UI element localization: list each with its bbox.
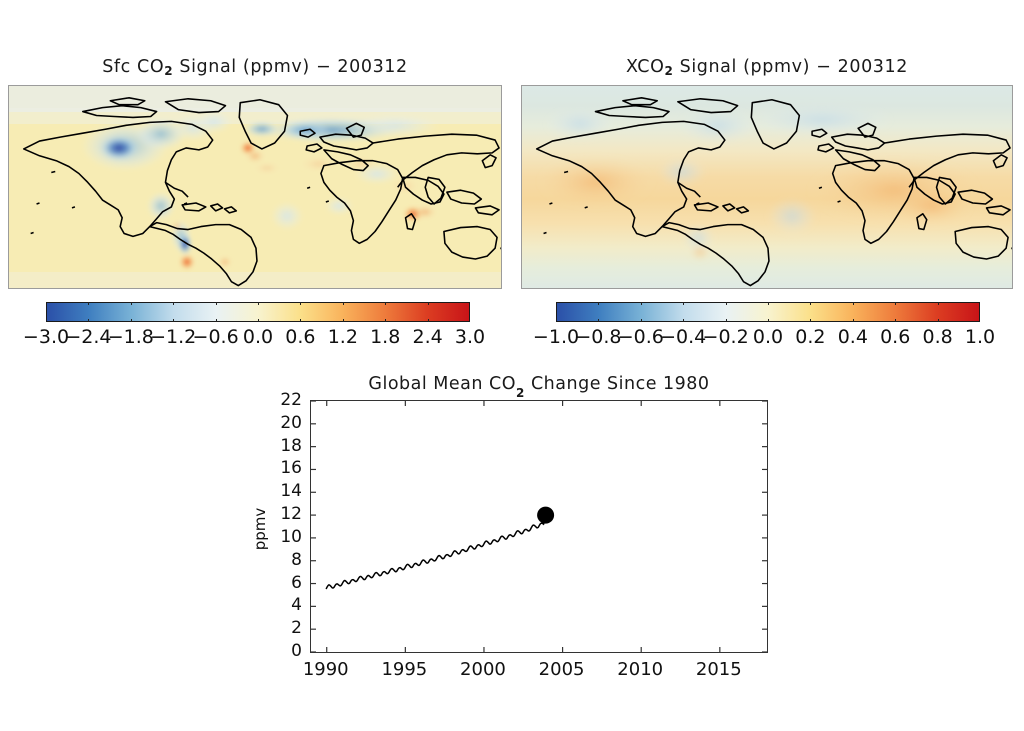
coastline-left-svg	[9, 86, 501, 289]
y-axis-tick-label: 4	[258, 595, 302, 615]
colorbar-tick	[726, 302, 727, 305]
coastline-right-svg	[522, 86, 1012, 289]
coastline-overlay-left	[9, 86, 501, 288]
colorbar-tick	[131, 302, 132, 305]
xco2-colorbar-labels: −1.0−0.8−0.6−0.4−0.20.00.20.40.60.81.0	[556, 326, 980, 350]
x-axis-tick-label: 2010	[617, 659, 663, 680]
x-axis-tick-label: 1990	[303, 659, 349, 680]
colorbar-tick-label: −0.4	[660, 326, 706, 348]
colorbar-tick	[938, 319, 939, 322]
xco2-colorbar: −1.0−0.8−0.6−0.4−0.20.00.20.40.60.81.0	[556, 302, 980, 354]
colorbar-tick	[300, 319, 301, 322]
timeseries-title-main: Global Mean CO	[368, 374, 516, 394]
colorbar-tick-label: 0.6	[285, 326, 315, 348]
colorbar-tick	[173, 302, 174, 305]
colorbar-tick-label: 1.0	[965, 326, 995, 348]
xco2-colorbar-ticks	[556, 302, 980, 322]
colorbar-tick-label: 0.8	[922, 326, 952, 348]
colorbar-tick-label: −1.2	[150, 326, 196, 348]
y-axis-tick-label: 18	[258, 436, 302, 456]
x-axis-tick-label: 2015	[696, 659, 742, 680]
sfc-colorbar-labels: −3.0−2.4−1.8−1.2−0.60.00.61.21.82.43.0	[46, 326, 470, 350]
timeseries-title: Global Mean CO2 Change Since 1980	[310, 374, 768, 397]
colorbar-tick-label: 3.0	[455, 326, 485, 348]
y-axis-tick-label: 12	[258, 504, 302, 524]
colorbar-tick	[768, 302, 769, 305]
colorbar-tick	[258, 319, 259, 322]
xco2-map-title-rest: Signal (ppmv) − 200312	[673, 57, 908, 77]
timeseries-title-rest: Change Since 1980	[525, 374, 710, 394]
colorbar-tick	[173, 319, 174, 322]
y-axis-tick-label: 20	[258, 413, 302, 433]
colorbar-tick-label: −1.8	[108, 326, 154, 348]
timeseries-plot-area[interactable]	[310, 400, 768, 653]
colorbar-tick	[853, 319, 854, 322]
sfc-colorbar-ticks	[46, 302, 470, 322]
timeseries-line	[326, 515, 545, 589]
colorbar-tick	[726, 319, 727, 322]
colorbar-tick	[131, 319, 132, 322]
colorbar-tick	[300, 302, 301, 305]
colorbar-tick-label: 0.2	[795, 326, 825, 348]
colorbar-tick-label: 0.0	[243, 326, 273, 348]
colorbar-tick	[88, 302, 89, 305]
y-axis-tick-label: 14	[258, 481, 302, 501]
colorbar-tick	[598, 319, 599, 322]
xco2-map[interactable]	[521, 85, 1013, 289]
colorbar-tick	[385, 319, 386, 322]
colorbar-tick	[768, 319, 769, 322]
colorbar-tick-label: −0.8	[575, 326, 621, 348]
colorbar-tick	[598, 302, 599, 305]
sfc-map-title-rest: Signal (ppmv) − 200312	[173, 57, 408, 77]
colorbar-tick-label: 1.8	[370, 326, 400, 348]
colorbar-tick-label: −0.6	[193, 326, 239, 348]
colorbar-tick	[216, 302, 217, 305]
colorbar-tick	[428, 319, 429, 322]
colorbar-tick	[895, 319, 896, 322]
colorbar-tick-label: 0.4	[838, 326, 868, 348]
colorbar-tick-label: −1.0	[533, 326, 579, 348]
colorbar-tick-label: −0.6	[618, 326, 664, 348]
colorbar-tick	[853, 302, 854, 305]
colorbar-tick	[895, 302, 896, 305]
y-axis-tick-label: 6	[258, 573, 302, 593]
coastline-overlay-right	[522, 86, 1012, 288]
colorbar-tick-label: −2.4	[65, 326, 111, 348]
y-axis-tick-label: 8	[258, 550, 302, 570]
colorbar-tick-label: 2.4	[412, 326, 442, 348]
xco2-map-title-subscript: 2	[665, 64, 674, 78]
colorbar-tick-label: 1.2	[328, 326, 358, 348]
colorbar-tick-label: −0.2	[703, 326, 749, 348]
colorbar-tick	[641, 302, 642, 305]
sfc-map-title-main: Sfc CO	[102, 57, 164, 77]
colorbar-tick	[428, 302, 429, 305]
colorbar-tick	[810, 302, 811, 305]
timeseries-title-subscript: 2	[516, 386, 525, 400]
sfc-colorbar: −3.0−2.4−1.8−1.2−0.60.00.61.21.82.43.0	[46, 302, 470, 354]
y-axis-tick-label: 2	[258, 618, 302, 638]
y-axis-tick-label: 16	[258, 458, 302, 478]
colorbar-tick	[385, 302, 386, 305]
colorbar-tick	[88, 319, 89, 322]
colorbar-tick-label: 0.0	[753, 326, 783, 348]
y-axis-tick-label: 10	[258, 527, 302, 547]
x-axis-tick-label: 2000	[460, 659, 506, 680]
y-axis-tick-label: 22	[258, 390, 302, 410]
colorbar-tick	[683, 319, 684, 322]
sfc-map-title: Sfc CO2 Signal (ppmv) − 200312	[8, 57, 502, 77]
timeseries-svg	[311, 401, 767, 652]
y-axis-tick-label: 0	[258, 641, 302, 661]
colorbar-tick	[938, 302, 939, 305]
colorbar-tick	[216, 319, 217, 322]
x-axis-tick-label: 1995	[381, 659, 427, 680]
colorbar-tick-label: −3.0	[23, 326, 69, 348]
colorbar-tick	[810, 319, 811, 322]
colorbar-tick	[683, 302, 684, 305]
colorbar-tick	[343, 319, 344, 322]
colorbar-tick-label: 0.6	[880, 326, 910, 348]
colorbar-tick	[343, 302, 344, 305]
x-axis-tick-label: 2005	[539, 659, 585, 680]
timeseries-endpoint-marker	[537, 507, 554, 524]
colorbar-tick	[258, 302, 259, 305]
xco2-map-title: XCO2 Signal (ppmv) − 200312	[521, 57, 1013, 77]
sfc-co2-map[interactable]	[8, 85, 502, 289]
colorbar-tick	[641, 319, 642, 322]
sfc-map-title-subscript: 2	[164, 64, 173, 78]
xco2-map-title-main: XCO	[626, 57, 665, 77]
